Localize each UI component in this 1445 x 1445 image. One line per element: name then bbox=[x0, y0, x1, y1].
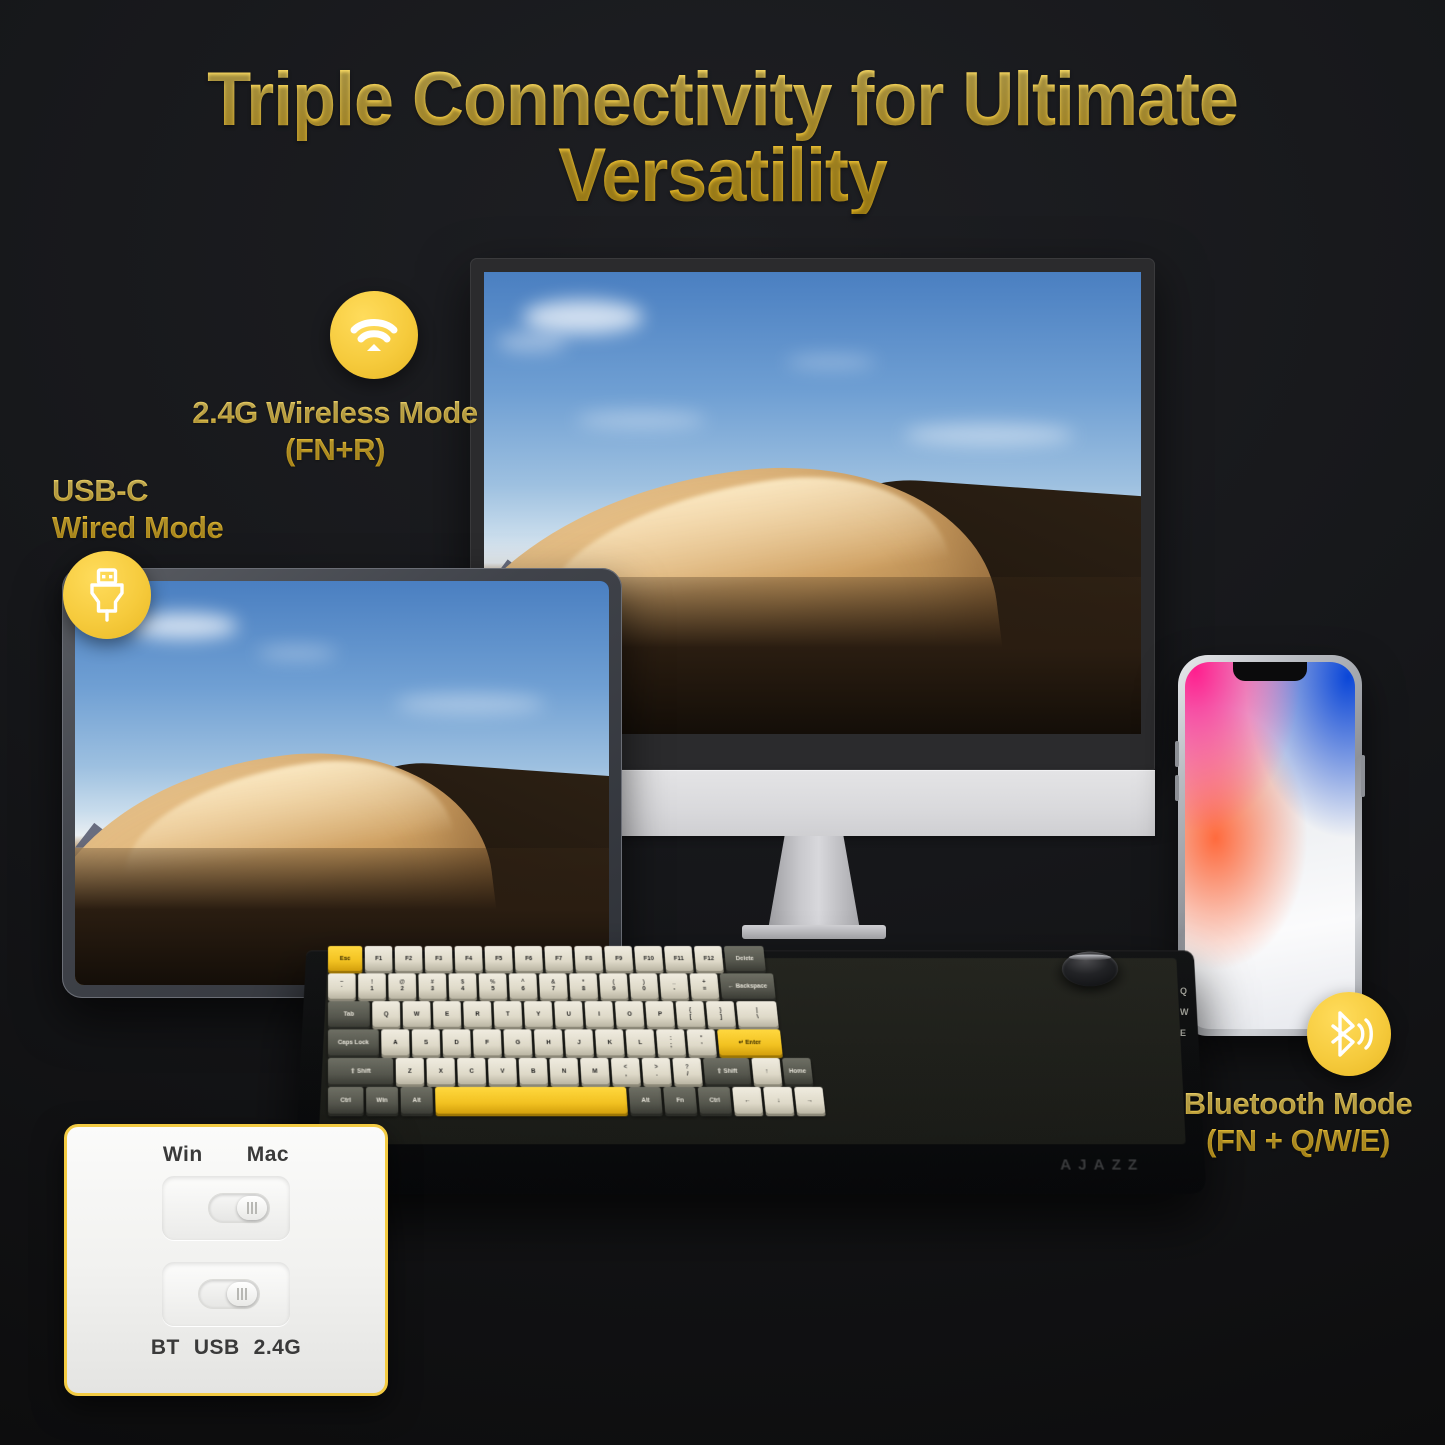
key-r[interactable]: R bbox=[463, 1001, 492, 1027]
usb-plug-icon bbox=[63, 551, 151, 639]
switch-label-mac: Mac bbox=[247, 1143, 289, 1167]
key-esc[interactable]: Esc bbox=[328, 946, 362, 971]
key-w[interactable]: W bbox=[403, 1001, 431, 1027]
key-t[interactable]: T bbox=[494, 1001, 523, 1027]
key-b[interactable]: B bbox=[519, 1058, 548, 1084]
page-title: Triple Connectivity for Ultimate Versati… bbox=[36, 62, 1409, 214]
key-6[interactable]: ^6 bbox=[509, 973, 538, 998]
key-key[interactable]: >. bbox=[642, 1058, 672, 1084]
key-key[interactable]: _- bbox=[659, 973, 689, 998]
wifi-icon bbox=[330, 291, 418, 379]
mojave-wallpaper-tablet bbox=[75, 581, 609, 985]
bluetooth-icon bbox=[1307, 992, 1391, 1076]
key-j[interactable]: J bbox=[564, 1029, 594, 1055]
key-key[interactable]: }] bbox=[706, 1001, 736, 1027]
key-f10[interactable]: F10 bbox=[634, 946, 663, 971]
switch-label-usb: USB bbox=[194, 1336, 240, 1360]
key-f9[interactable]: F9 bbox=[604, 946, 633, 971]
key-l[interactable]: L bbox=[625, 1029, 655, 1055]
key-tab[interactable]: Tab bbox=[328, 1001, 370, 1027]
key-4[interactable]: $4 bbox=[448, 973, 476, 998]
key-key[interactable]: → bbox=[794, 1087, 825, 1114]
wireless-mode-label: 2.4G Wireless Mode (FN+R) bbox=[140, 395, 530, 468]
switch-label-win: Win bbox=[163, 1143, 203, 1167]
key-p[interactable]: P bbox=[645, 1001, 675, 1027]
key-fn[interactable]: Fn bbox=[663, 1087, 697, 1114]
keyboard-row: CtrlWinAltAltFnCtrl←↓→ bbox=[328, 1087, 1218, 1114]
key-7[interactable]: &7 bbox=[539, 973, 568, 998]
led-w: W bbox=[1180, 1007, 1189, 1017]
key-key[interactable] bbox=[435, 1087, 628, 1114]
key-home[interactable]: Home bbox=[782, 1058, 813, 1084]
key-shift[interactable]: ⇧ Shift bbox=[328, 1058, 393, 1084]
key-ctrl[interactable]: Ctrl bbox=[328, 1087, 364, 1114]
key-x[interactable]: X bbox=[426, 1058, 455, 1084]
monitor-stand-neck bbox=[768, 836, 860, 930]
key-1[interactable]: !1 bbox=[358, 973, 386, 998]
switch-label-24g: 2.4G bbox=[254, 1336, 302, 1360]
key-key[interactable]: ← bbox=[732, 1087, 763, 1114]
key-key[interactable]: {[ bbox=[675, 1001, 705, 1027]
key-f11[interactable]: F11 bbox=[664, 946, 694, 971]
keyboard-row: Caps LockASDFGHJKL:;"'↵ Enter bbox=[328, 1029, 1206, 1055]
key-key[interactable]: :; bbox=[656, 1029, 686, 1055]
tablet-screen bbox=[75, 581, 609, 985]
key-key[interactable]: "' bbox=[687, 1029, 717, 1055]
key-0[interactable]: )0 bbox=[629, 973, 659, 998]
key-f7[interactable]: F7 bbox=[544, 946, 573, 971]
promo-canvas: Triple Connectivity for Ultimate Versati… bbox=[0, 0, 1445, 1445]
phone-volume-up-button[interactable] bbox=[1175, 741, 1179, 767]
key-a[interactable]: A bbox=[381, 1029, 409, 1055]
key-g[interactable]: G bbox=[503, 1029, 532, 1055]
key-i[interactable]: I bbox=[584, 1001, 613, 1027]
phone-volume-down-button[interactable] bbox=[1175, 775, 1179, 801]
key-o[interactable]: O bbox=[615, 1001, 645, 1027]
wired-mode-label: USB-C Wired Mode bbox=[52, 473, 223, 546]
os-toggle-switch[interactable] bbox=[208, 1193, 270, 1223]
connection-toggle-knob[interactable] bbox=[227, 1282, 257, 1306]
mode-indicator-leds: QWE bbox=[1180, 986, 1189, 1038]
key-9[interactable]: (9 bbox=[599, 973, 628, 998]
phone-power-button[interactable] bbox=[1361, 755, 1365, 797]
smartphone bbox=[1178, 655, 1362, 1036]
key-shift[interactable]: ⇧ Shift bbox=[703, 1058, 751, 1084]
key-z[interactable]: Z bbox=[396, 1058, 425, 1084]
keyboard-row: ~`!1@2#3$4%5^6&7*8(9)0_-+=← Backspace bbox=[328, 973, 1194, 998]
led-e: E bbox=[1180, 1028, 1189, 1038]
key-backspace[interactable]: ← Backspace bbox=[720, 973, 776, 998]
key-m[interactable]: M bbox=[580, 1058, 610, 1084]
key-enter[interactable]: ↵ Enter bbox=[717, 1029, 783, 1055]
key-key[interactable]: <, bbox=[611, 1058, 641, 1084]
key-y[interactable]: Y bbox=[524, 1001, 553, 1027]
mode-switch-panel: Win Mac BT USB 2.4G bbox=[64, 1124, 388, 1396]
key-capslock[interactable]: Caps Lock bbox=[328, 1029, 379, 1055]
key-f[interactable]: F bbox=[473, 1029, 502, 1055]
key-f2[interactable]: F2 bbox=[395, 946, 423, 971]
key-key[interactable]: ↑ bbox=[751, 1058, 782, 1084]
switch-label-bt: BT bbox=[151, 1336, 180, 1360]
key-s[interactable]: S bbox=[412, 1029, 441, 1055]
key-f5[interactable]: F5 bbox=[484, 946, 512, 971]
key-q[interactable]: Q bbox=[372, 1001, 400, 1027]
phone-frame bbox=[1178, 655, 1362, 1036]
key-win[interactable]: Win bbox=[366, 1087, 398, 1114]
key-c[interactable]: C bbox=[457, 1058, 486, 1084]
keyboard-row: EscF1F2F3F4F5F6F7F8F9F10F11F12Delete bbox=[328, 946, 1188, 971]
key-key[interactable]: ↓ bbox=[763, 1087, 794, 1114]
key-f1[interactable]: F1 bbox=[365, 946, 393, 971]
key-alt[interactable]: Alt bbox=[629, 1087, 663, 1114]
connection-switch-housing bbox=[162, 1262, 290, 1326]
key-f4[interactable]: F4 bbox=[455, 946, 483, 971]
key-delete[interactable]: Delete bbox=[724, 946, 766, 971]
key-e[interactable]: E bbox=[433, 1001, 462, 1027]
key-u[interactable]: U bbox=[554, 1001, 583, 1027]
key-f12[interactable]: F12 bbox=[694, 946, 724, 971]
key-2[interactable]: @2 bbox=[388, 973, 416, 998]
key-key[interactable]: ~` bbox=[328, 973, 356, 998]
key-8[interactable]: *8 bbox=[569, 973, 598, 998]
key-5[interactable]: %5 bbox=[479, 973, 508, 998]
key-3[interactable]: #3 bbox=[418, 973, 446, 998]
key-n[interactable]: N bbox=[549, 1058, 579, 1084]
os-switch-housing bbox=[162, 1176, 290, 1240]
bluetooth-mode-label: Bluetooth Mode (FN + Q/W/E) bbox=[1150, 1086, 1445, 1159]
key-k[interactable]: K bbox=[595, 1029, 625, 1055]
led-q: Q bbox=[1180, 986, 1189, 996]
keyboard-row: TabQWERTYUIOP{[}]|\ bbox=[328, 1001, 1200, 1027]
key-key[interactable]: |\ bbox=[736, 1001, 779, 1027]
key-key[interactable]: ?/ bbox=[672, 1058, 702, 1084]
connection-toggle-switch[interactable] bbox=[198, 1279, 260, 1309]
keyboard-row: ⇧ ShiftZXCVBNM<,>.?/⇧ Shift↑Home bbox=[328, 1058, 1212, 1084]
key-key[interactable]: += bbox=[689, 973, 719, 998]
key-ctrl[interactable]: Ctrl bbox=[698, 1087, 732, 1114]
key-v[interactable]: V bbox=[488, 1058, 517, 1084]
key-f3[interactable]: F3 bbox=[425, 946, 453, 971]
os-switch-labels: Win Mac bbox=[67, 1143, 385, 1167]
phone-notch bbox=[1233, 662, 1307, 681]
phone-screen bbox=[1185, 662, 1355, 1029]
key-alt[interactable]: Alt bbox=[401, 1087, 433, 1114]
key-f8[interactable]: F8 bbox=[574, 946, 603, 971]
key-h[interactable]: H bbox=[534, 1029, 563, 1055]
os-toggle-knob[interactable] bbox=[237, 1196, 267, 1220]
key-f6[interactable]: F6 bbox=[514, 946, 543, 971]
keyboard-brand-logo: AJAZZ bbox=[1060, 1156, 1145, 1173]
connection-switch-labels: BT USB 2.4G bbox=[67, 1336, 385, 1360]
key-d[interactable]: D bbox=[442, 1029, 471, 1055]
